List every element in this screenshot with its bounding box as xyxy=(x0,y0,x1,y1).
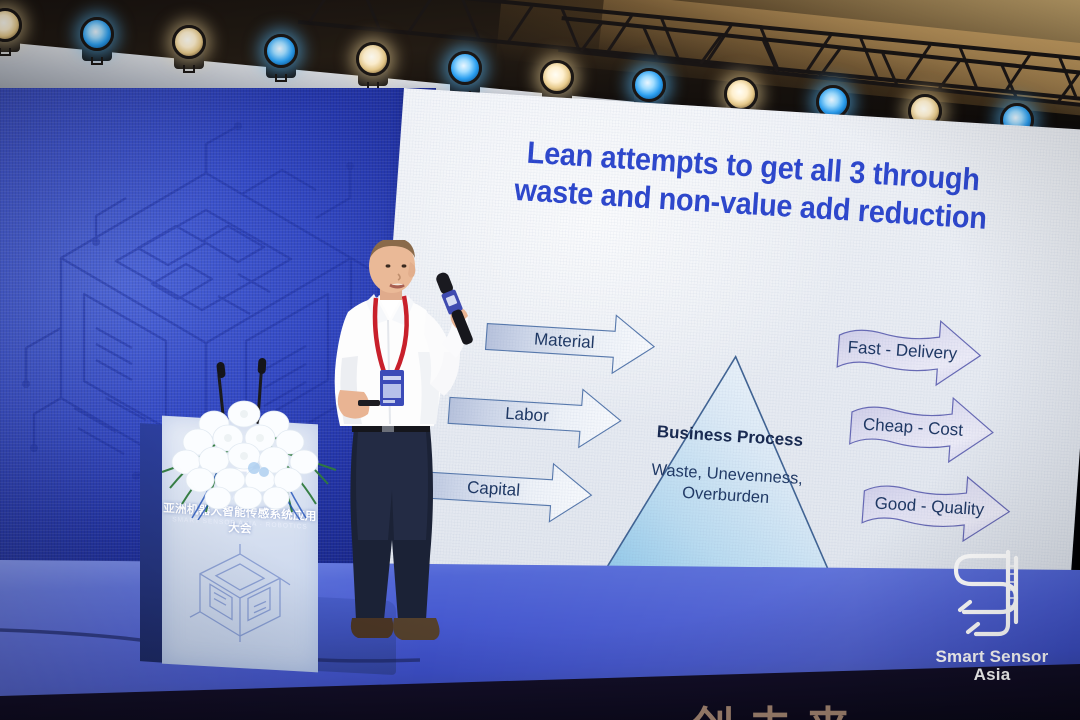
stage-light-3-warm xyxy=(170,25,208,71)
stage-light-lens xyxy=(80,17,114,51)
stage-light-lens xyxy=(264,34,298,68)
output-arrow-cheap-cost-label: Cheap - Cost xyxy=(862,415,963,441)
speaker-presenter xyxy=(318,240,498,670)
presentation-screen-area: Lean attempts to get all 3 through waste… xyxy=(404,88,1080,604)
podium-circuit-cube-icon xyxy=(184,529,296,647)
smart-sensor-asia-monogram-icon xyxy=(946,544,1038,644)
flower-arrangement xyxy=(156,380,342,520)
watermark-logo: Smart Sensor Asia xyxy=(926,544,1058,684)
watermark-line-2: Asia xyxy=(926,666,1058,684)
speaker-trousers xyxy=(350,428,433,620)
output-arrow-good-quality-label: Good - Quality xyxy=(874,494,985,521)
podium-mic-head-left xyxy=(216,362,226,379)
stage-light-yoke xyxy=(275,74,287,82)
output-arrow-fast-delivery-label: Fast - Delivery xyxy=(847,338,958,365)
input-arrow-labor-label: Labor xyxy=(505,404,550,427)
watermark-line-1: Smart Sensor xyxy=(926,648,1058,666)
stage-light-4-blue xyxy=(262,34,300,80)
speaker-badge xyxy=(380,370,404,406)
speaker-shoes xyxy=(351,618,440,640)
stage-light-lens xyxy=(172,25,206,59)
stage-light-yoke xyxy=(183,65,195,73)
stage-light-yoke xyxy=(91,57,103,65)
stage-photo-scene: Lean attempts to get all 3 through waste… xyxy=(0,0,1080,720)
stage-light-5-warm xyxy=(354,42,392,88)
stage-light-1-warm xyxy=(0,8,24,54)
stage-light-lens xyxy=(448,51,482,85)
bottom-chinese-text-partial: 创未来 xyxy=(690,692,864,720)
stage-light-yoke xyxy=(0,48,11,56)
presentation-clicker xyxy=(358,400,380,406)
speaker-head xyxy=(369,240,415,300)
podium-mic-head-right xyxy=(257,358,266,375)
stage-light-2-blue xyxy=(78,17,116,63)
input-arrow-material-label: Material xyxy=(533,329,595,353)
